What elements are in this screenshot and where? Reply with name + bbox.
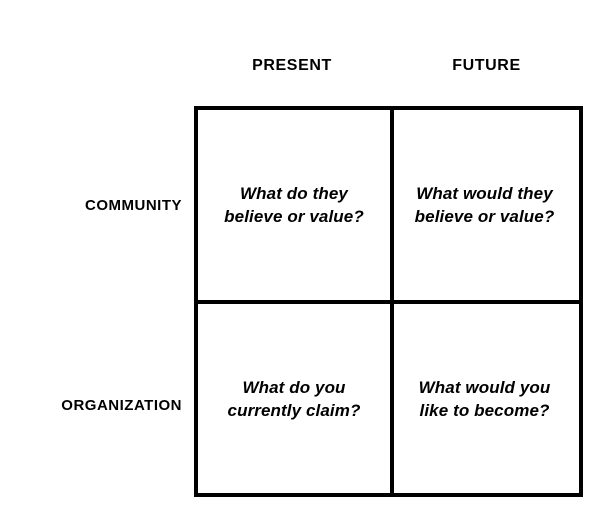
cell-community-present-text: What do they believe or value? [224, 182, 364, 228]
cell-community-present: What do they believe or value? [198, 110, 390, 300]
row-label-organization: ORGANIZATION [61, 396, 182, 416]
matrix-figure: PRESENT FUTURE COMMUNITY ORGANIZATION Wh… [0, 0, 613, 528]
row-label-community: COMMUNITY [85, 196, 182, 216]
cell-organization-present-text: What do you currently claim? [228, 376, 361, 422]
cell-organization-present: What do you currently claim? [198, 304, 390, 493]
grid-divider-horizontal [198, 300, 579, 304]
column-header-present: PRESENT [194, 54, 390, 78]
cell-community-future-text: What would they believe or value? [415, 182, 555, 228]
cell-organization-future: What would you like to become? [390, 304, 579, 493]
cell-organization-future-text: What would you like to become? [419, 376, 551, 422]
column-header-future: FUTURE [390, 54, 583, 78]
cell-community-future: What would they believe or value? [390, 110, 579, 300]
matrix-grid: What do they believe or value? What woul… [194, 106, 583, 497]
